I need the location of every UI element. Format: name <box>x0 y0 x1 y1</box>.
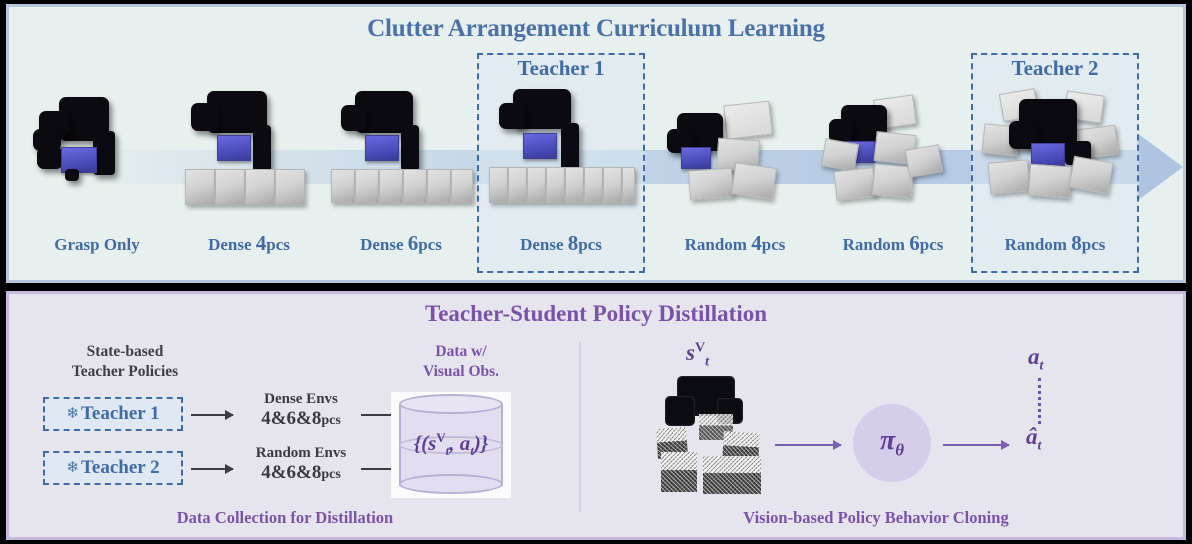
policy-to-action-arrow <box>943 444 1009 446</box>
point-cloud-observation <box>655 372 785 500</box>
figure-root: Clutter Arrangement Curriculum Learning <box>0 0 1192 544</box>
stage-scene-image <box>817 85 969 225</box>
stage-dense-8pcs[interactable]: Teacher 1 Dense 8pcs <box>485 53 637 275</box>
stage-label: Random 8pcs <box>979 231 1131 256</box>
stage-label: Dense 4pcs <box>173 231 325 256</box>
left-section-caption: Data Collection for Distillation <box>110 508 460 528</box>
curriculum-progression-arrow-head <box>1137 133 1183 201</box>
teacher-1-label: Teacher 1 <box>81 403 160 425</box>
curriculum-panel-title: Clutter Arrangement Curriculum Learning <box>9 15 1183 43</box>
stage-teacher-tag <box>325 53 477 83</box>
stage-grasp-only[interactable]: Grasp Only <box>21 53 173 275</box>
stage-scene-image <box>979 85 1131 225</box>
teacher-1-chip[interactable]: ❄ Teacher 1 <box>43 397 183 431</box>
stage-label: Random 6pcs <box>817 231 969 256</box>
observation-to-policy-arrow <box>775 444 841 446</box>
teacher-2-chip[interactable]: ❄ Teacher 2 <box>43 451 183 485</box>
stage-scene-image <box>325 85 477 225</box>
visual-state-symbol: sVt <box>686 340 709 371</box>
random-envs-label: Random Envs 4&6&8pcs <box>237 445 365 484</box>
stage-random-6pcs[interactable]: Random 6pcs <box>817 53 969 275</box>
ground-truth-action-symbol: at <box>1028 344 1043 375</box>
stage-label: Dense 6pcs <box>325 231 477 256</box>
section-divider <box>579 342 581 512</box>
policy-symbol: πθ <box>880 425 904 461</box>
curriculum-panel: Clutter Arrangement Curriculum Learning <box>6 4 1186 283</box>
stage-teacher-tag <box>659 53 811 83</box>
bc-loss-dotted-connector <box>1038 378 1041 424</box>
stage-teacher-tag <box>817 53 969 83</box>
stage-dense-4pcs[interactable]: Dense 4pcs <box>173 53 325 275</box>
stage-teacher-tag <box>21 53 173 83</box>
stage-random-4pcs[interactable]: Random 4pcs <box>659 53 811 275</box>
stage-label: Dense 8pcs <box>485 231 637 256</box>
dataset-formula: {(sVt, at)} <box>391 430 511 459</box>
stage-teacher-tag: Teacher 1 <box>485 53 637 83</box>
snowflake-icon: ❄ <box>66 407 79 422</box>
state-teacher-header-line1: State-based <box>25 342 225 363</box>
stage-scene-image <box>173 85 325 225</box>
snowflake-icon: ❄ <box>66 461 79 476</box>
distillation-panel: Teacher-Student Policy Distillation Stat… <box>6 291 1186 540</box>
right-section-caption: Vision-based Policy Behavior Cloning <box>700 508 1052 528</box>
teacher-1-to-env-arrow <box>191 414 233 416</box>
teacher-2-label: Teacher 2 <box>81 457 160 479</box>
stage-teacher-tag <box>173 53 325 83</box>
stage-label: Random 4pcs <box>659 231 811 256</box>
stage-scene-image <box>659 85 811 225</box>
stage-scene-image <box>485 85 637 225</box>
stage-scene-image <box>21 85 173 225</box>
data-visual-header-line2: Visual Obs. <box>371 362 551 383</box>
stage-label: Grasp Only <box>21 231 173 256</box>
distillation-panel-title: Teacher-Student Policy Distillation <box>9 301 1183 327</box>
stage-teacher-tag: Teacher 2 <box>979 53 1131 83</box>
state-teacher-header-line2: Teacher Policies <box>25 362 225 383</box>
dense-envs-label: Dense Envs 4&6&8pcs <box>237 391 365 430</box>
policy-node[interactable]: πθ <box>853 404 931 482</box>
stage-dense-6pcs[interactable]: Dense 6pcs <box>325 53 477 275</box>
dataset-database-icon: {(sVt, at)} <box>391 392 511 498</box>
predicted-action-symbol: ât <box>1026 424 1041 455</box>
stage-random-8pcs[interactable]: Teacher 2 Random 8pcs <box>979 53 1131 275</box>
teacher-2-to-env-arrow <box>191 468 233 470</box>
data-visual-header-line1: Data w/ <box>371 342 551 363</box>
